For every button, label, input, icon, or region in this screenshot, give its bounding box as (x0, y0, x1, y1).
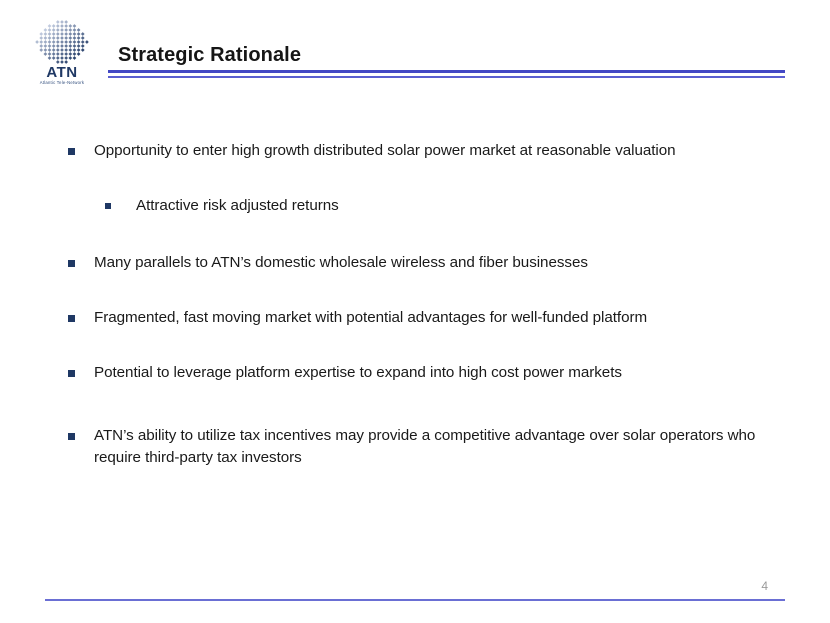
bullet-text: ATN’s ability to utilize tax incentives … (94, 425, 784, 469)
atn-logo-wordmark: ATN (28, 65, 96, 80)
bullet-square-icon (68, 370, 75, 377)
bullet-square-icon (68, 148, 75, 155)
bullet-text: Fragmented, fast moving market with pote… (94, 307, 647, 329)
bullet-square-icon (68, 433, 75, 440)
bullet-item: Opportunity to enter high growth distrib… (0, 140, 830, 162)
bullet-item: ATN’s ability to utilize tax incentives … (0, 425, 830, 469)
bullet-item: Potential to leverage platform expertise… (0, 362, 830, 384)
bullet-square-icon (68, 260, 75, 267)
footer-rule (45, 599, 785, 601)
page-title: Strategic Rationale (118, 44, 301, 67)
slide-header: ATN Atlantic Tele-Network Strategic Rati… (0, 0, 830, 95)
atn-logo-tagline: Atlantic Tele-Network (28, 80, 96, 86)
bullet-square-icon (68, 315, 75, 322)
header-rule-primary (108, 70, 785, 73)
bullet-item: Fragmented, fast moving market with pote… (0, 307, 830, 329)
bullet-item: Attractive risk adjusted returns (0, 195, 830, 217)
header-rule-secondary (108, 76, 785, 78)
bullet-square-icon (105, 203, 111, 209)
bullet-text: Attractive risk adjusted returns (136, 195, 339, 217)
page-number: 4 (761, 579, 768, 593)
atn-dot-sphere-icon (35, 20, 89, 64)
slide-footer: 4 (0, 573, 830, 623)
bullet-item: Many parallels to ATN’s domestic wholesa… (0, 252, 830, 274)
bullet-text: Opportunity to enter high growth distrib… (94, 140, 676, 162)
atn-logo: ATN Atlantic Tele-Network (28, 20, 96, 86)
bullet-text: Many parallels to ATN’s domestic wholesa… (94, 252, 588, 274)
slide: ATN Atlantic Tele-Network Strategic Rati… (0, 0, 830, 623)
bullet-text: Potential to leverage platform expertise… (94, 362, 622, 384)
